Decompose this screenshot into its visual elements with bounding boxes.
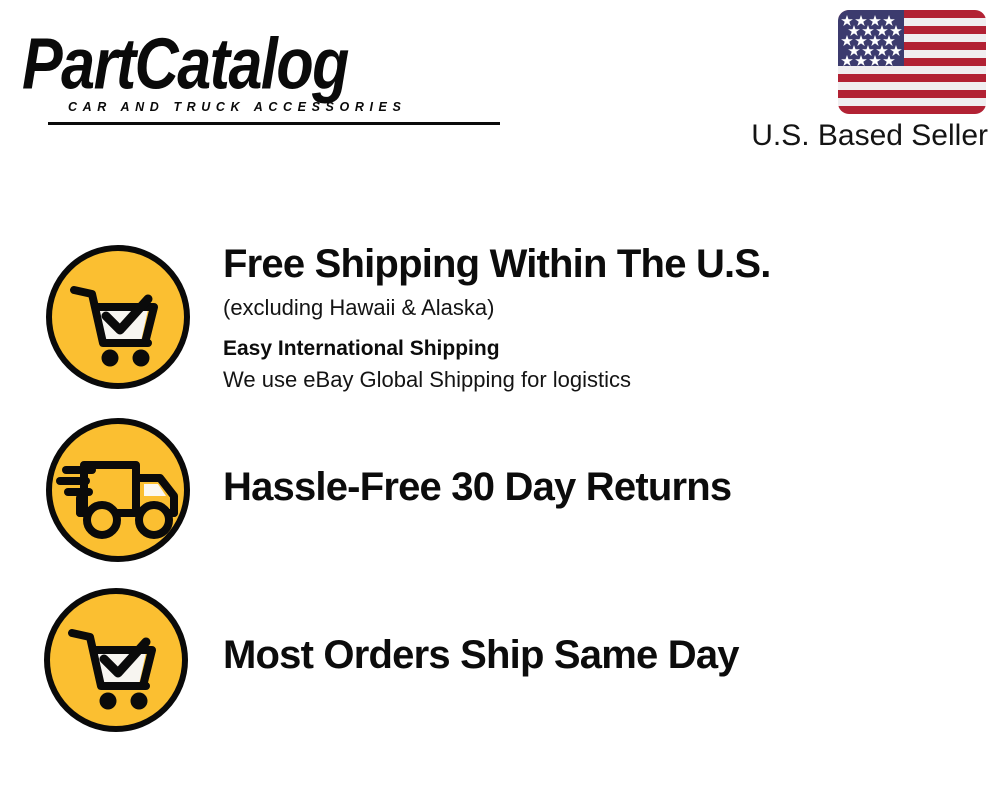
feature-text-block: Most Orders Ship Same Day: [223, 632, 923, 678]
feature-row: Hassle-Free 30 Day Returns: [0, 416, 1000, 574]
feature-sub-heading: Easy International Shipping: [223, 334, 923, 364]
feature-title: Most Orders Ship Same Day: [223, 632, 923, 678]
brand-logo: PartCatalog CAR AND TRUCK ACCESSORIES: [22, 26, 492, 118]
us-based-seller-label: U.S. Based Seller: [700, 117, 988, 155]
logo-underline-rule: [48, 122, 500, 125]
feature-row: Most Orders Ship Same Day: [0, 586, 1000, 744]
feature-text-block: Free Shipping Within The U.S. (excluding…: [223, 241, 923, 395]
promo-banner: PartCatalog CAR AND TRUCK ACCESSORIES: [0, 0, 1000, 800]
shopping-cart-check-icon: [42, 586, 190, 734]
shopping-cart-check-icon: [44, 243, 192, 391]
brand-tagline: CAR AND TRUCK ACCESSORIES: [68, 100, 406, 114]
feature-text-block: Hassle-Free 30 Day Returns: [223, 464, 923, 510]
us-flag-icon: [838, 10, 986, 114]
feature-title: Free Shipping Within The U.S.: [223, 241, 923, 287]
delivery-truck-icon: [44, 416, 192, 564]
brand-wordmark: PartCatalog: [22, 26, 492, 102]
feature-row: Free Shipping Within The U.S. (excluding…: [0, 243, 1000, 403]
banner-header: PartCatalog CAR AND TRUCK ACCESSORIES: [0, 0, 1000, 170]
feature-subtitle: (excluding Hawaii & Alaska): [223, 293, 923, 323]
feature-title: Hassle-Free 30 Day Returns: [223, 464, 923, 510]
feature-sub-detail: We use eBay Global Shipping for logistic…: [223, 365, 923, 395]
